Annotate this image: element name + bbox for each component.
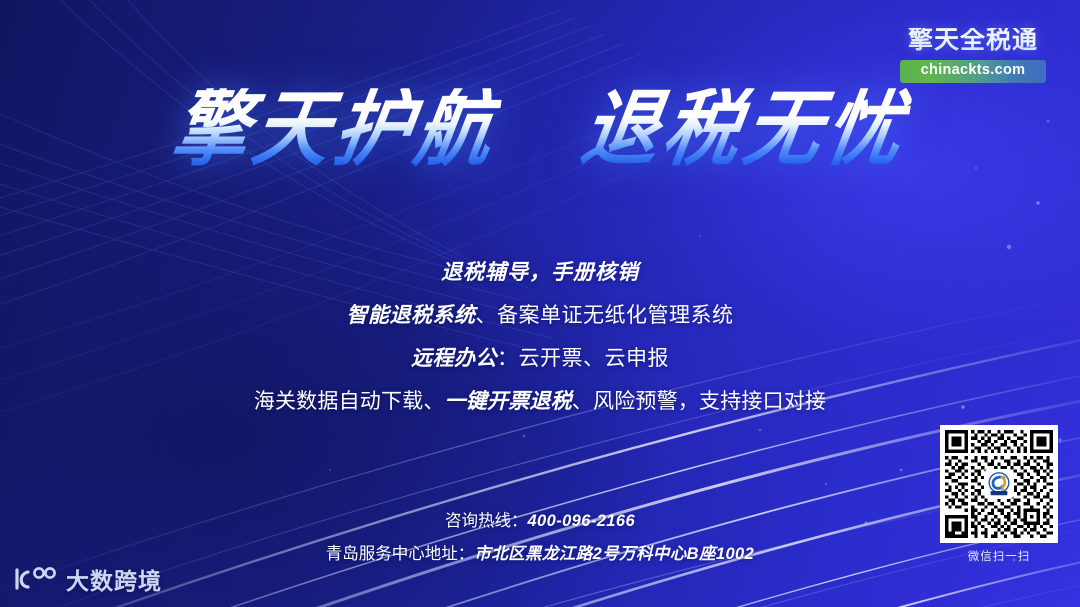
feature-line-3-highlight: 远程办公: [411, 347, 497, 370]
watermark-text: 大数跨境: [66, 570, 162, 593]
feature-line-3: 远程办公：云开票、云申报: [0, 348, 1080, 369]
feature-line-4: 海关数据自动下载、一键开票退税、风险预警，支持接口对接: [0, 391, 1080, 412]
address-label: 青岛服务中心地址：: [326, 545, 475, 563]
qijing-swirl-logo-icon: [984, 469, 1014, 499]
address-row: 青岛服务中心地址：市北区黑龙江路2号万科中心B座1002: [0, 546, 1080, 563]
brand-name: 擎天全税通: [888, 28, 1058, 53]
brand-website-badge: chinackts.com: [900, 60, 1046, 83]
feature-line-2: 智能退税系统、备案单证无纸化管理系统: [0, 305, 1080, 326]
page-title: 擎天护航 退税无忧: [0, 92, 1080, 168]
qr-caption: 微信扫一扫: [940, 552, 1058, 564]
hotline-number: 400-096-2166: [527, 512, 635, 530]
qr-code-image[interactable]: [940, 425, 1058, 543]
brand-logo: 擎天全税通 chinackts.com: [888, 28, 1058, 83]
feature-line-2-rest: 、备案单证无纸化管理系统: [476, 304, 734, 327]
feature-line-4-post: 、风险预警，支持接口对接: [572, 390, 826, 413]
feature-line-4-highlight: 一键开票退税: [445, 390, 572, 413]
feature-list: 退税辅导，手册核销 智能退税系统、备案单证无纸化管理系统 远程办公：云开票、云申…: [0, 262, 1080, 412]
wechat-qr-block[interactable]: 微信扫一扫: [940, 425, 1058, 564]
feature-line-4-pre: 海关数据自动下载、: [254, 390, 445, 413]
feature-line-3-rest: ：云开票、云申报: [497, 347, 669, 370]
site-watermark: 大数跨境: [12, 564, 162, 599]
address-value: 市北区黑龙江路2号万科中心B座1002: [474, 545, 754, 563]
promotional-poster: 擎天全税通 chinackts.com 擎天护航 退税无忧 退税辅导，手册核销 …: [0, 0, 1080, 607]
page-title-part-1: 擎天护航: [166, 88, 503, 172]
hotline-label: 咨询热线：: [445, 512, 528, 530]
feature-line-1: 退税辅导，手册核销: [0, 262, 1080, 283]
hotline-row: 咨询热线：400-096-2166: [0, 513, 1080, 530]
feature-line-2-highlight: 智能退税系统: [347, 304, 476, 327]
page-title-part-2: 退税无忧: [577, 88, 914, 172]
dashu-kuajing-logo-icon: [12, 564, 58, 599]
contact-info: 咨询热线：400-096-2166 青岛服务中心地址：市北区黑龙江路2号万科中心…: [0, 513, 1080, 562]
